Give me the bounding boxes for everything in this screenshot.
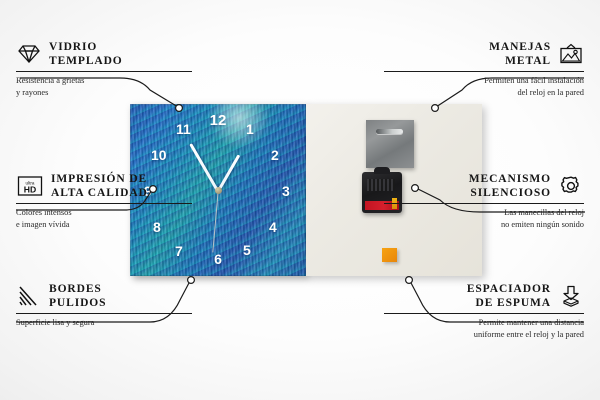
clock-number-6: 6 bbox=[214, 252, 222, 266]
callout-desc-line1: Permiten una fácil instalación bbox=[384, 75, 584, 86]
hanger-slot bbox=[376, 129, 403, 134]
callout-title: ESPACIADOR DE ESPUMA bbox=[467, 282, 551, 310]
callout-desc-line2: uniforme entre el reloj y la pared bbox=[384, 329, 584, 340]
callout-espaciador-espuma: ESPACIADOR DE ESPUMA Permite mantener un… bbox=[384, 282, 584, 340]
callout-title: VIDRIO TEMPLADO bbox=[49, 40, 123, 68]
polished-edges-icon bbox=[16, 285, 42, 307]
svg-text:HD: HD bbox=[24, 185, 36, 195]
callout-header: MECANISMO SILENCIOSO bbox=[384, 172, 584, 200]
callout-title: IMPRESIÓN DE ALTA CALIDAD bbox=[51, 172, 148, 200]
callout-header: BORDES PULIDOS bbox=[16, 282, 216, 310]
clock-number-7: 7 bbox=[175, 244, 183, 258]
callout-rule bbox=[384, 313, 584, 314]
down-arrow-spacer-icon bbox=[558, 285, 584, 307]
clock-number-10: 10 bbox=[151, 148, 167, 162]
infographic-canvas: 12 1 2 3 4 5 6 7 8 9 10 11 bbox=[0, 0, 600, 400]
callout-rule bbox=[16, 313, 192, 314]
clock-number-11: 11 bbox=[176, 122, 191, 136]
clock-hour-hand bbox=[217, 154, 241, 192]
callout-rule bbox=[384, 71, 584, 72]
callout-header: MANEJAS METAL bbox=[384, 40, 584, 68]
callout-desc-line1: Permite mantener una distancia bbox=[384, 317, 584, 328]
picture-hanger-icon bbox=[558, 43, 584, 65]
callout-vidrio-templado: VIDRIO TEMPLADO Resistencia a grietas y … bbox=[16, 40, 216, 98]
callout-desc-line1: Las manecillas del reloj bbox=[384, 207, 584, 218]
callout-rule bbox=[16, 71, 192, 72]
clock-number-5: 5 bbox=[243, 243, 251, 257]
callout-desc-line1: Resistencia a grietas bbox=[16, 75, 216, 86]
clock-number-1: 1 bbox=[246, 122, 254, 136]
callout-mecanismo-silencioso: MECANISMO SILENCIOSO Las manecillas del … bbox=[384, 172, 584, 230]
callout-desc-line2: e imagen vívida bbox=[16, 219, 216, 230]
callout-desc-line1: Superficie lisa y segura bbox=[16, 317, 216, 328]
clock-number-12: 12 bbox=[210, 113, 227, 128]
callout-rule bbox=[16, 203, 192, 204]
callout-rule bbox=[384, 203, 584, 204]
gear-icon bbox=[558, 175, 584, 197]
callout-desc-line2: no emiten ningún sonido bbox=[384, 219, 584, 230]
callout-title: BORDES PULIDOS bbox=[49, 282, 106, 310]
ultra-hd-icon: ultra HD bbox=[16, 175, 44, 197]
diamond-icon bbox=[16, 43, 42, 65]
callout-impresion-alta-calidad: ultra HD IMPRESIÓN DE ALTA CALIDAD Color… bbox=[16, 172, 216, 230]
clock-number-4: 4 bbox=[269, 220, 277, 234]
clock-number-3: 3 bbox=[282, 184, 290, 198]
callout-title: MANEJAS METAL bbox=[489, 40, 551, 68]
callout-desc-line2: y rayones bbox=[16, 87, 216, 98]
metal-hanger-plate bbox=[366, 120, 414, 168]
callout-header: ESPACIADOR DE ESPUMA bbox=[384, 282, 584, 310]
callout-desc-line2: del reloj en la pared bbox=[384, 87, 584, 98]
callout-bordes-pulidos: BORDES PULIDOS Superficie lisa y segura bbox=[16, 282, 216, 329]
orange-foam-spacer bbox=[382, 248, 397, 262]
clock-number-2: 2 bbox=[271, 148, 279, 162]
callout-title: MECANISMO SILENCIOSO bbox=[469, 172, 551, 200]
callout-header: ultra HD IMPRESIÓN DE ALTA CALIDAD bbox=[16, 172, 216, 200]
callout-manejas-metal: MANEJAS METAL Permiten una fácil instala… bbox=[384, 40, 584, 98]
callout-header: VIDRIO TEMPLADO bbox=[16, 40, 216, 68]
callout-desc-line1: Colores intensos bbox=[16, 207, 216, 218]
